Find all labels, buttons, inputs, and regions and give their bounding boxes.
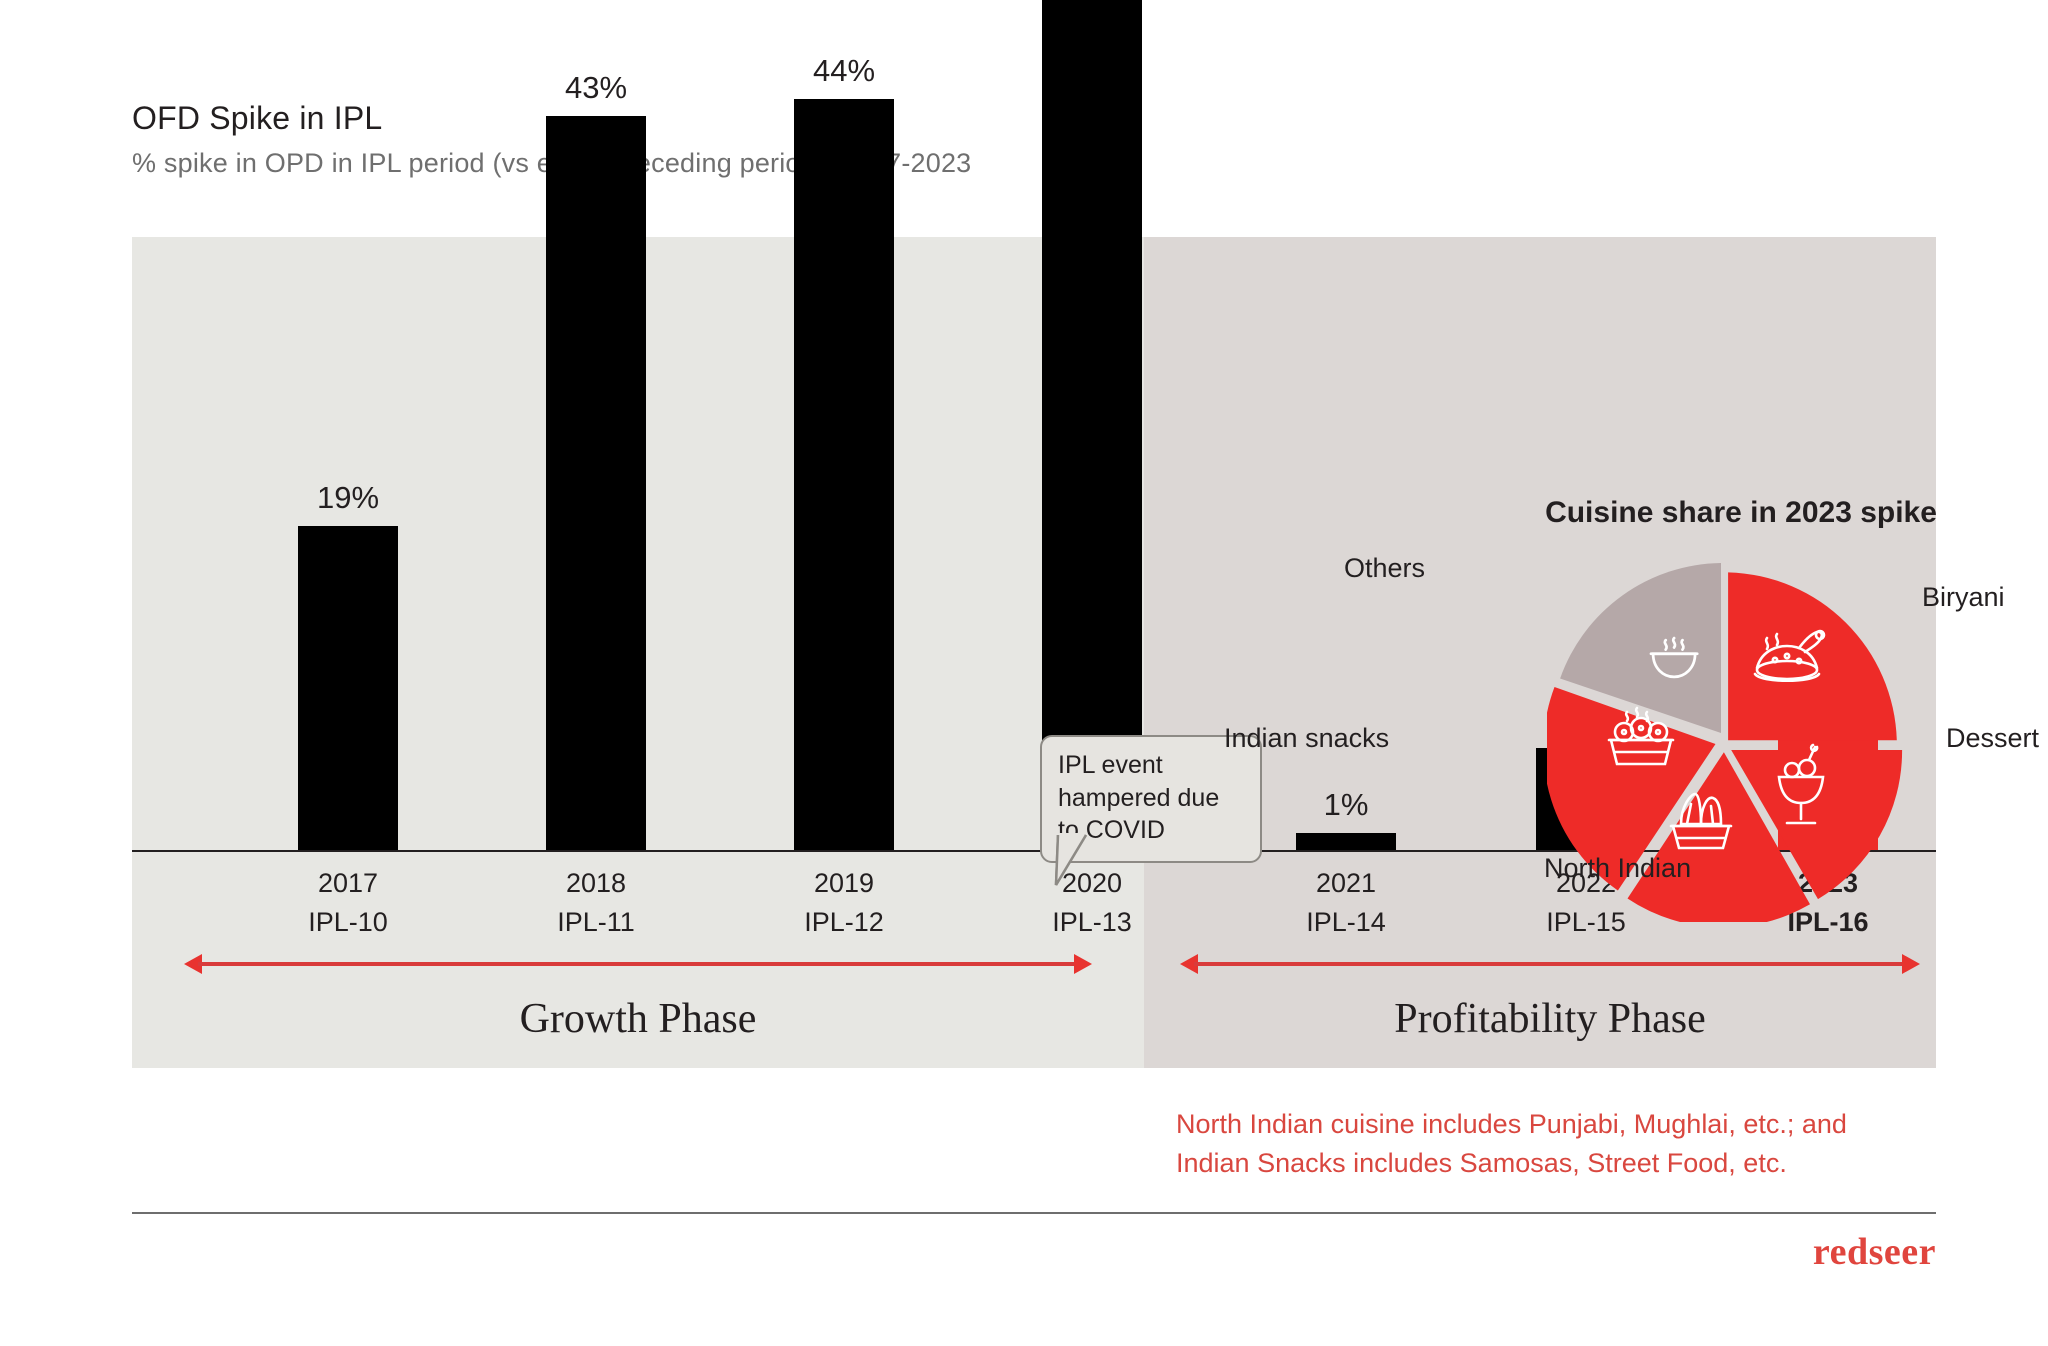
bar-value-label: 19%	[317, 480, 379, 516]
bar-2021[interactable]: 1%	[1296, 787, 1396, 850]
xlabel-2018: 2018 IPL-11	[516, 864, 676, 942]
bar-rect	[794, 99, 894, 850]
pie-label-indian-snacks: Indian snacks	[1224, 723, 1389, 754]
infographic-page: OFD Spike in IPL % spike in OPD in IPL p…	[0, 0, 2048, 1346]
pie-chart-title: Cuisine share in 2023 spike	[1516, 496, 1966, 530]
growth-phase-arrow	[184, 951, 1092, 977]
bar-2020[interactable]: 52%	[1042, 0, 1142, 850]
xlabel-2019: 2019 IPL-12	[764, 864, 924, 942]
growth-phase-label: Growth Phase	[184, 995, 1092, 1043]
page-title: OFD Spike in IPL	[132, 100, 382, 137]
arrow-right-icon	[1074, 954, 1092, 974]
profitability-phase-label: Profitability Phase	[1180, 995, 1920, 1043]
pie-label-others: Others	[1344, 553, 1425, 584]
callout-tail-icon	[1040, 833, 1160, 913]
footer-divider	[132, 1212, 1936, 1214]
xlabel-season: IPL-11	[516, 903, 676, 942]
footnote-line-1: North Indian cuisine includes Punjabi, M…	[1176, 1105, 1847, 1144]
bar-2019[interactable]: 44%	[794, 53, 894, 850]
bar-rect	[546, 116, 646, 850]
bar-2018[interactable]: 43%	[546, 70, 646, 850]
arrow-line	[198, 962, 1078, 966]
xlabel-year: 2017	[268, 864, 428, 903]
xlabel-2017: 2017 IPL-10	[268, 864, 428, 942]
pie-label-dessert: Dessert	[1946, 723, 2039, 754]
profitability-phase-group: Profitability Phase	[1180, 951, 1920, 1043]
bar-value-label: 43%	[565, 70, 627, 106]
xlabel-2021: 2021 IPL-14	[1266, 864, 1426, 942]
profitability-phase-arrow	[1180, 951, 1920, 977]
xlabel-year: 2021	[1266, 864, 1426, 903]
bar-2017[interactable]: 19%	[298, 480, 398, 850]
xlabel-season: IPL-14	[1266, 903, 1426, 942]
xlabel-season: IPL-10	[268, 903, 428, 942]
bar-rect	[298, 526, 398, 850]
covid-callout-text: IPL event hampered due to COVID	[1058, 751, 1219, 844]
xlabel-season: IPL-12	[764, 903, 924, 942]
xlabel-year: 2019	[764, 864, 924, 903]
footnote-line-2: Indian Snacks includes Samosas, Street F…	[1176, 1144, 1847, 1183]
bar-value-label: 44%	[813, 53, 875, 89]
growth-phase-group: Growth Phase	[184, 951, 1092, 1043]
bar-rect	[1296, 833, 1396, 850]
xlabel-year: 2018	[516, 864, 676, 903]
redseer-logo: redseer	[1813, 1230, 1936, 1274]
chart-panel: 19% 43% 44% 52% 1% 6%	[132, 237, 1936, 1068]
bar-value-label: 1%	[1324, 787, 1369, 823]
pie-label-biryani: Biryani	[1922, 582, 2005, 613]
pie-label-north-indian: North Indian	[1544, 853, 1691, 884]
footnote: North Indian cuisine includes Punjabi, M…	[1176, 1105, 1847, 1183]
arrow-line	[1194, 962, 1906, 966]
bar-rect	[1042, 0, 1142, 850]
arrow-right-icon	[1902, 954, 1920, 974]
